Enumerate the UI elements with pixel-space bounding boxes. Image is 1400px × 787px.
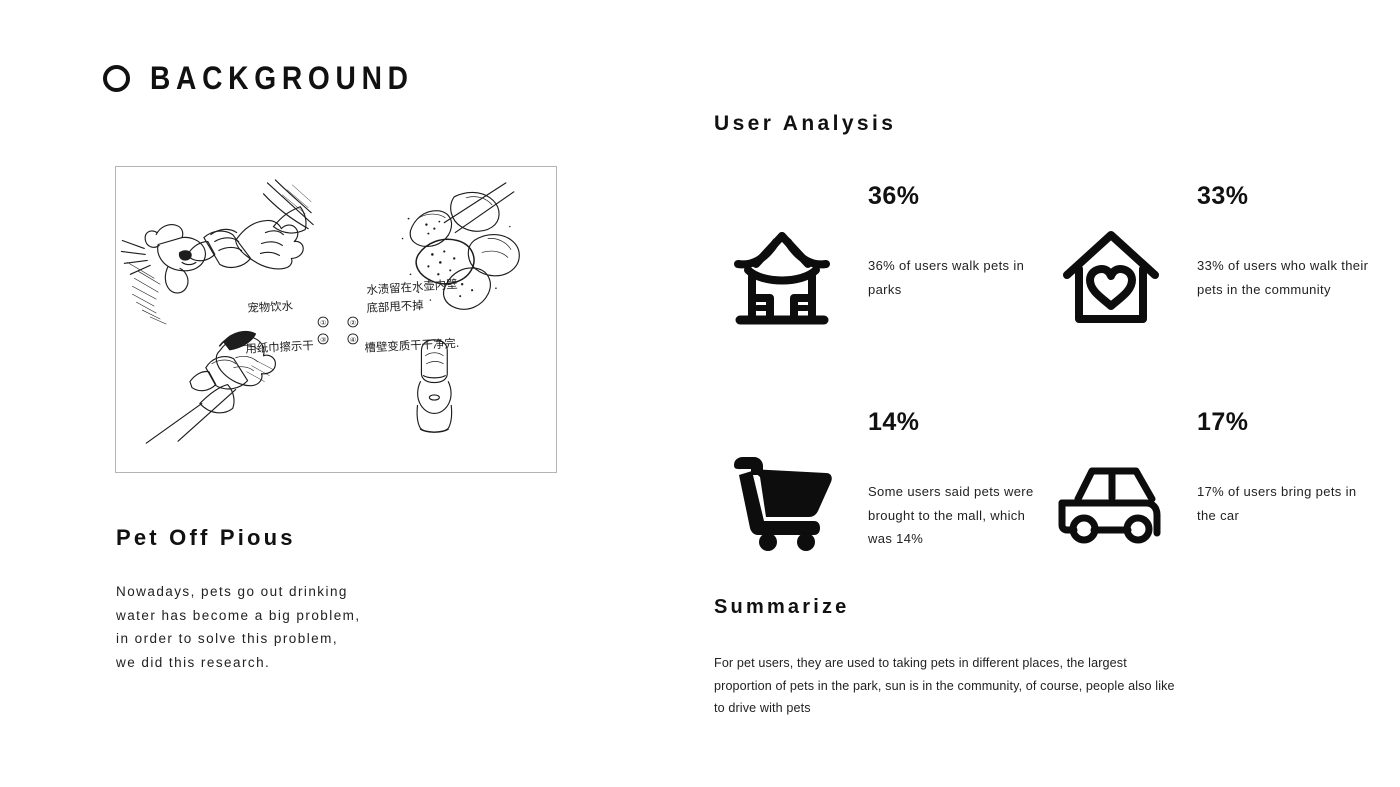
summarize-heading: Summarize — [714, 596, 850, 619]
circle-outline-icon — [103, 65, 130, 92]
stat-card-parks: 36% 36% of users walk pets in parks — [714, 182, 1044, 367]
svg-text:②: ② — [350, 319, 356, 327]
svg-text:用纸巾擦示干: 用纸巾擦示干 — [245, 338, 314, 356]
left-section-heading: Pet Off Pious — [116, 525, 296, 551]
svg-text:水渍留在水壶内壁: 水渍留在水壶内壁 — [366, 277, 458, 297]
user-analysis-heading: User Analysis — [714, 112, 896, 136]
stat-description: 17% of users bring pets in the car — [1197, 480, 1377, 527]
stat-percent: 14% — [868, 408, 920, 437]
hand-drawn-storyboard-sketch: 宠物饮水 水渍留在水壶内壁 底部甩不掉 用纸巾擦示干 槽壁变质干干净完. ① ②… — [115, 166, 557, 473]
svg-text:底部甩不掉: 底部甩不掉 — [366, 298, 424, 315]
svg-text:③: ③ — [320, 336, 326, 344]
stat-percent: 17% — [1197, 408, 1249, 437]
svg-text:④: ④ — [350, 336, 356, 344]
summarize-body: For pet users, they are used to taking p… — [714, 652, 1184, 720]
page-title: BACKGROUND — [150, 62, 414, 94]
svg-text:槽壁变质干干净完.: 槽壁变质干干净完. — [364, 336, 459, 355]
section-title: BACKGROUND — [103, 62, 450, 94]
svg-text:宠物饮水: 宠物饮水 — [247, 299, 294, 315]
stat-percent: 36% — [868, 182, 920, 211]
stat-description: 33% of users who walk their pets in the … — [1197, 254, 1377, 301]
stat-percent: 33% — [1197, 182, 1249, 211]
stat-card-car: 17% 17% of users bring pets in the car — [1043, 408, 1373, 593]
house-heart-icon — [1051, 222, 1171, 334]
car-icon — [1051, 448, 1171, 560]
shopping-cart-icon — [722, 448, 842, 560]
pagoda-icon — [722, 222, 842, 334]
stat-description: Some users said pets were brought to the… — [868, 480, 1040, 551]
stat-description: 36% of users walk pets in parks — [868, 254, 1040, 301]
stat-card-community: 33% 33% of users who walk their pets in … — [1043, 182, 1373, 367]
svg-text:①: ① — [320, 319, 326, 327]
stat-card-mall: 14% Some users said pets were brought to… — [714, 408, 1044, 593]
left-section-body: Nowadays, pets go out drinking water has… — [116, 580, 456, 674]
